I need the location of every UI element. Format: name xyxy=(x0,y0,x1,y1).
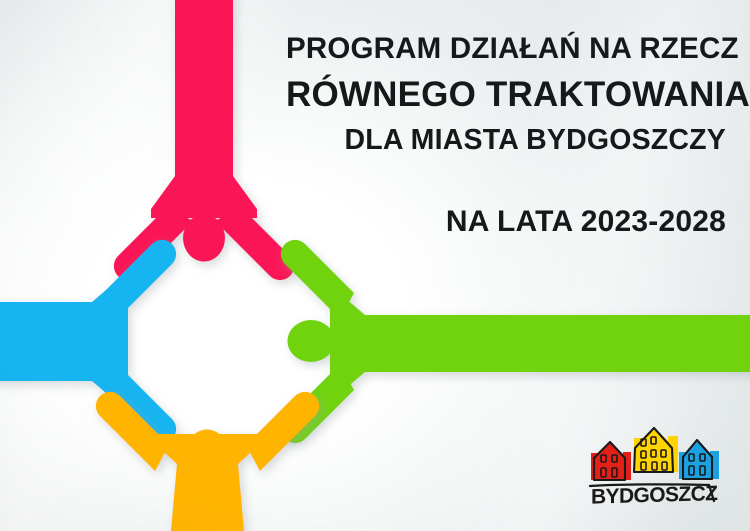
figure-right-upper-arm xyxy=(281,240,354,319)
title-line-2: RÓWNEGO TRAKTOWANIA xyxy=(286,77,726,112)
figure-top-body xyxy=(151,0,257,218)
logo-house-blue-icon xyxy=(679,439,719,479)
figure-bottom-yellow xyxy=(96,392,319,531)
figure-right-green xyxy=(281,240,750,443)
figure-left-blue xyxy=(0,240,176,443)
period-subtitle: NA LATA 2023-2028 xyxy=(286,205,726,239)
logo-wordmark: BYDGOSZCZ xyxy=(591,482,718,509)
figure-top-head xyxy=(183,215,225,262)
logo-house-red-icon xyxy=(591,441,631,480)
bydgoszcz-logo: BYDGOSZCZ xyxy=(578,424,738,524)
figure-right-body xyxy=(330,292,750,395)
figure-bottom-head xyxy=(186,430,228,477)
title-line-3: DLA MIASTA BYDGOSZCZY xyxy=(286,126,726,155)
page-title: PROGRAM DZIAŁAŃ NA RZECZ RÓWNEGO TRAKTOW… xyxy=(286,34,726,154)
title-line-1: PROGRAM DZIAŁAŃ NA RZECZ xyxy=(286,34,726,64)
figure-top-pink xyxy=(114,0,294,280)
figure-right-head xyxy=(288,320,335,362)
figure-left-head xyxy=(76,320,123,362)
poster-canvas: PROGRAM DZIAŁAŃ NA RZECZ RÓWNEGO TRAKTOW… xyxy=(0,0,750,531)
logo-house-yellow-icon xyxy=(634,427,678,472)
